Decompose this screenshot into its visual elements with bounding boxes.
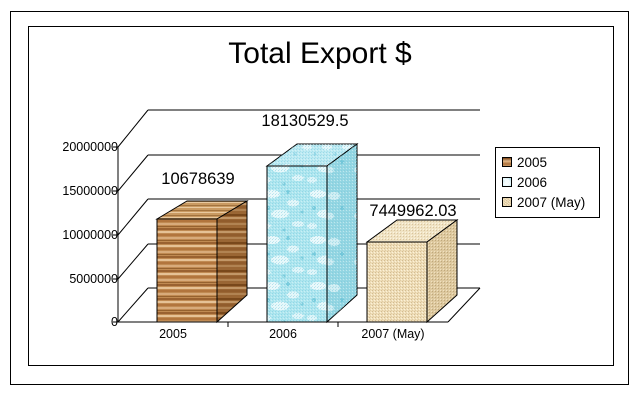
bar-2005-shape <box>150 200 250 330</box>
x-tick-label: 2007 (May) <box>333 327 453 341</box>
y-tick-label: 15000000 <box>62 185 118 197</box>
chart-legend[interactable]: 2005 2006 2007 (May) <box>495 147 600 218</box>
x-axis-labels: 2005 2006 2007 (May) <box>118 327 438 347</box>
legend-swatch-2007-may-icon <box>502 197 512 207</box>
y-tick-label: 10000000 <box>62 229 118 241</box>
bar-2007-may-shape <box>360 215 460 330</box>
legend-label-2006: 2006 <box>517 175 547 190</box>
y-tick-label: 20000000 <box>62 141 118 153</box>
legend-swatch-2005-icon <box>502 157 512 167</box>
chart-window: Total Export $ <box>0 0 640 401</box>
x-tick-label: 2005 <box>118 327 228 341</box>
x-tick-label: 2006 <box>228 327 338 341</box>
legend-label-2007-may: 2007 (May) <box>517 195 585 210</box>
data-label-2007-may: 7449962.03 <box>348 202 478 221</box>
data-label-2006: 18130529.5 <box>240 112 370 131</box>
legend-item-2007-may[interactable]: 2007 (May) <box>502 192 594 212</box>
legend-item-2005[interactable]: 2005 <box>502 152 594 172</box>
legend-swatch-2006-icon <box>502 177 512 187</box>
y-tick-label: 0 <box>111 316 118 328</box>
y-tick-label: 5000000 <box>69 273 118 285</box>
legend-item-2006[interactable]: 2006 <box>502 172 594 192</box>
data-label-2005: 10678639 <box>138 170 258 189</box>
legend-label-2005: 2005 <box>517 155 547 170</box>
y-axis-labels: 20000000 15000000 10000000 5000000 0 <box>32 0 118 401</box>
bar-2006-shape <box>260 140 360 330</box>
